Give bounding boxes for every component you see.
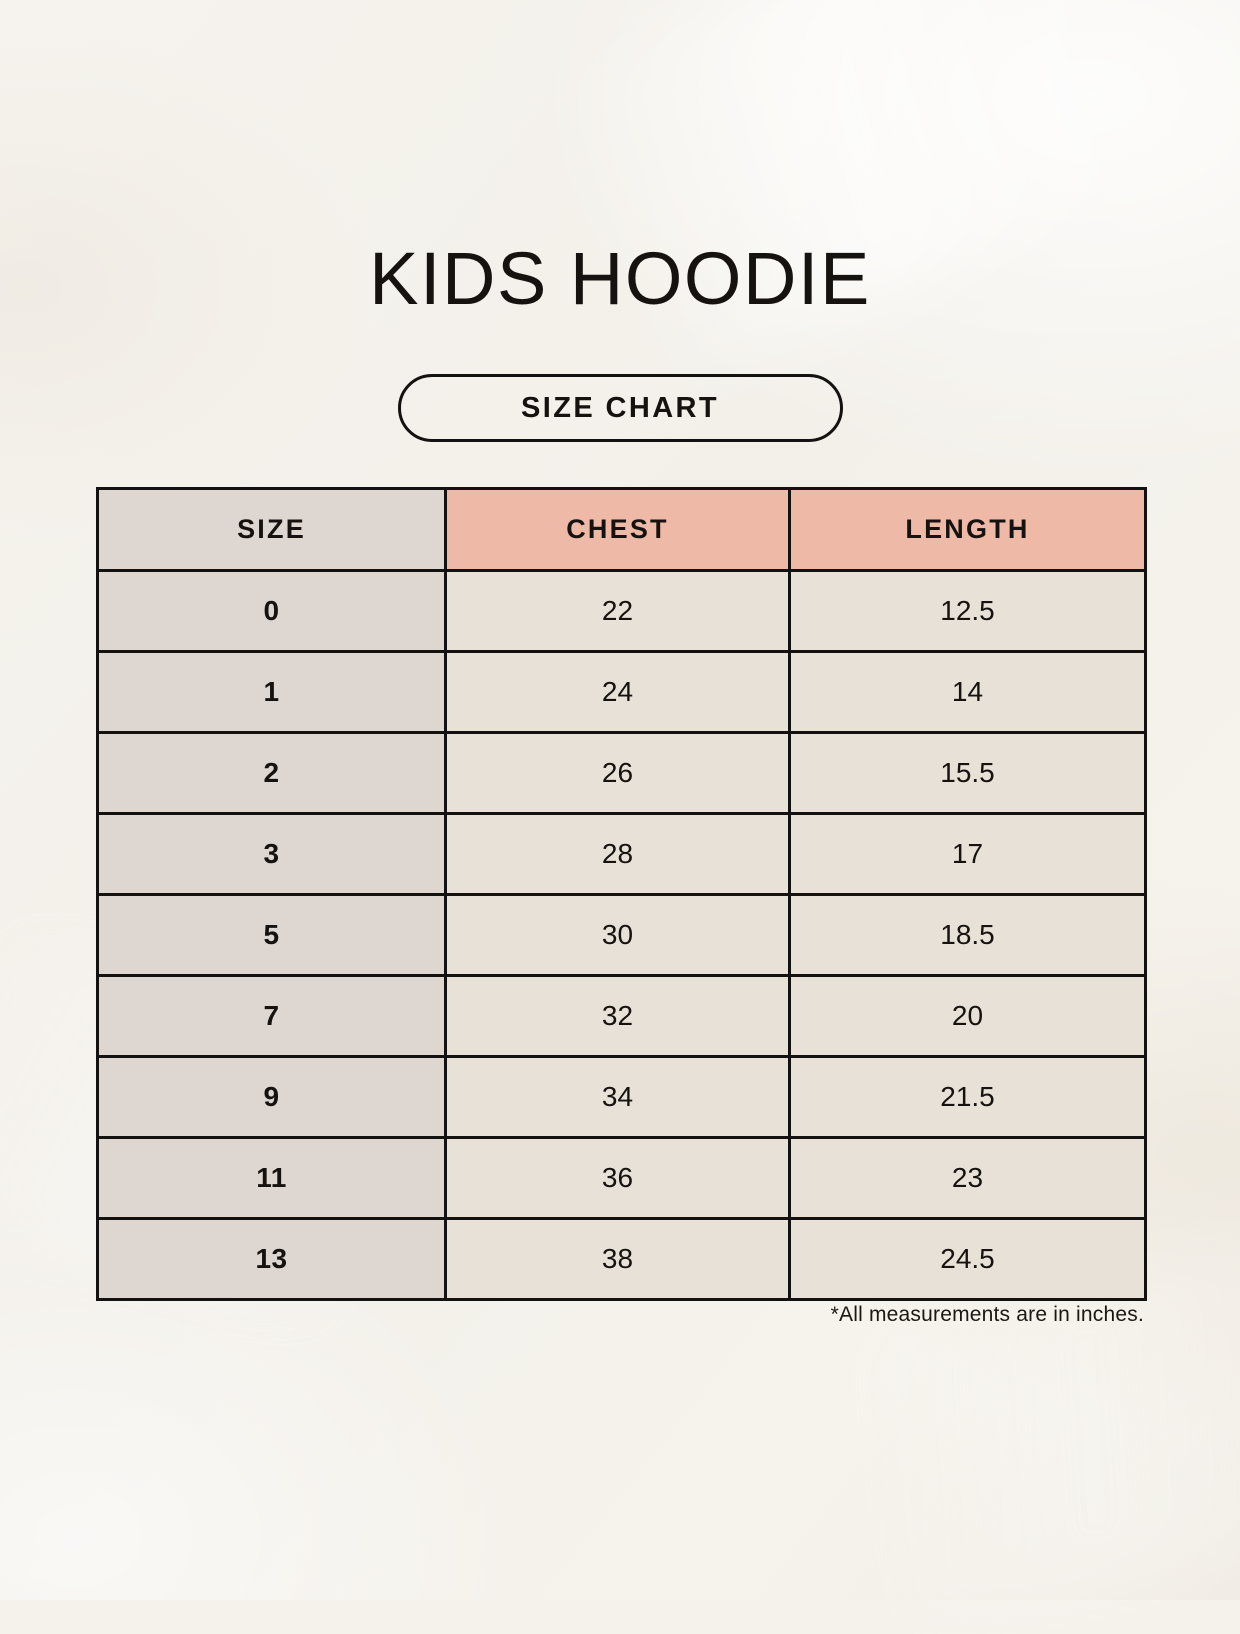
cell-size: 13 <box>98 1219 446 1300</box>
cell-length: 18.5 <box>790 895 1146 976</box>
column-header-length: LENGTH <box>790 489 1146 571</box>
cell-chest: 32 <box>446 976 790 1057</box>
cell-size: 9 <box>98 1057 446 1138</box>
cell-length: 20 <box>790 976 1146 1057</box>
cell-length: 24.5 <box>790 1219 1146 1300</box>
table-row: 7 32 20 <box>98 976 1146 1057</box>
cell-chest: 34 <box>446 1057 790 1138</box>
cell-length: 14 <box>790 652 1146 733</box>
table-header: SIZE CHEST LENGTH <box>98 489 1146 571</box>
cell-chest: 30 <box>446 895 790 976</box>
table-row: 13 38 24.5 <box>98 1219 1146 1300</box>
column-header-size: SIZE <box>98 489 446 571</box>
size-chart-table: SIZE CHEST LENGTH 0 22 12.5 1 24 14 2 <box>96 487 1147 1301</box>
badge-container: SIZE CHART <box>0 374 1240 442</box>
cell-chest: 28 <box>446 814 790 895</box>
cell-chest: 26 <box>446 733 790 814</box>
cell-chest: 22 <box>446 571 790 652</box>
cell-length: 21.5 <box>790 1057 1146 1138</box>
cell-size: 0 <box>98 571 446 652</box>
size-chart-page: KIDS HOODIE SIZE CHART SIZE CHEST LENGTH… <box>0 0 1240 1600</box>
page-title: KIDS HOODIE <box>0 242 1240 316</box>
cell-size: 7 <box>98 976 446 1057</box>
cell-size: 2 <box>98 733 446 814</box>
measurement-footnote: *All measurements are in inches. <box>831 1303 1144 1327</box>
size-chart-badge: SIZE CHART <box>398 374 843 442</box>
table-row: 3 28 17 <box>98 814 1146 895</box>
table-row: 9 34 21.5 <box>98 1057 1146 1138</box>
table-row: 1 24 14 <box>98 652 1146 733</box>
size-table-container: SIZE CHEST LENGTH 0 22 12.5 1 24 14 2 <box>96 487 1144 1301</box>
cell-length: 12.5 <box>790 571 1146 652</box>
cell-size: 3 <box>98 814 446 895</box>
table-row: 5 30 18.5 <box>98 895 1146 976</box>
cell-length: 23 <box>790 1138 1146 1219</box>
column-header-chest: CHEST <box>446 489 790 571</box>
cell-length: 17 <box>790 814 1146 895</box>
table-row: 2 26 15.5 <box>98 733 1146 814</box>
table-row: 0 22 12.5 <box>98 571 1146 652</box>
cell-length: 15.5 <box>790 733 1146 814</box>
cell-size: 11 <box>98 1138 446 1219</box>
cell-size: 5 <box>98 895 446 976</box>
table-body: 0 22 12.5 1 24 14 2 26 15.5 3 28 17 <box>98 571 1146 1300</box>
cell-chest: 24 <box>446 652 790 733</box>
cell-chest: 38 <box>446 1219 790 1300</box>
cell-chest: 36 <box>446 1138 790 1219</box>
table-header-row: SIZE CHEST LENGTH <box>98 489 1146 571</box>
cell-size: 1 <box>98 652 446 733</box>
table-row: 11 36 23 <box>98 1138 1146 1219</box>
